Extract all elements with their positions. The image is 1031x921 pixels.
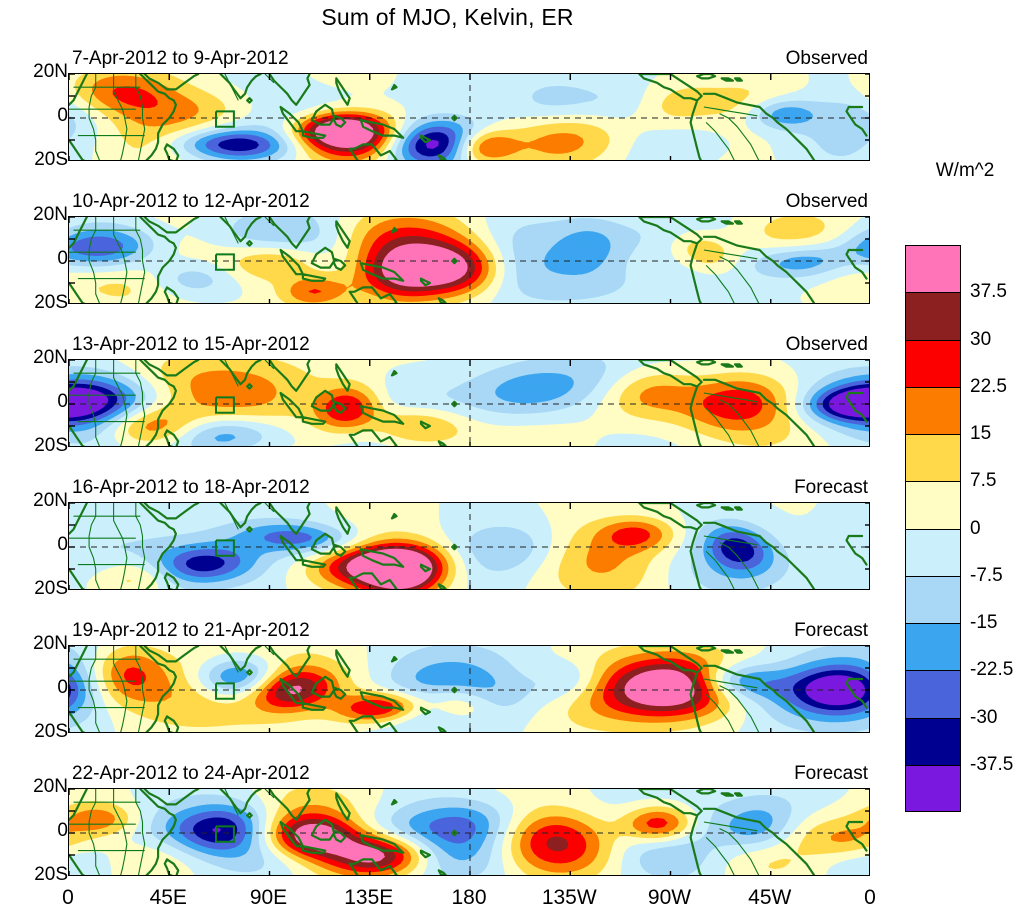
panel-date-label: 13-Apr-2012 to 15-Apr-2012	[72, 334, 310, 356]
colorbar-units-label: W/m^2	[905, 160, 1025, 182]
map-panel: 13-Apr-2012 to 15-Apr-2012Observed20N020…	[68, 359, 870, 447]
y-tick-label: 20S	[10, 864, 68, 886]
colorbar-band	[905, 623, 961, 670]
x-tick-label: 0	[62, 886, 74, 910]
colorbar-tick-label: -30	[970, 707, 997, 729]
y-tick-label: 20S	[10, 149, 68, 171]
y-axis: 20N020S	[2, 502, 68, 590]
colorbar	[905, 245, 961, 812]
panel-status-label: Forecast	[794, 620, 868, 642]
panel-date-label: 19-Apr-2012 to 21-Apr-2012	[72, 620, 310, 642]
colorbar-tick-label: -7.5	[970, 565, 1003, 587]
y-axis: 20N020S	[2, 359, 68, 447]
y-tick-label: 20S	[10, 578, 68, 600]
y-tick-label: 0	[10, 391, 68, 413]
y-tick-label: 0	[10, 105, 68, 127]
map-plot-area	[68, 502, 870, 590]
y-tick-label: 0	[10, 677, 68, 699]
map-panel: 22-Apr-2012 to 24-Apr-2012Forecast20N020…	[68, 788, 870, 876]
map-panel: 7-Apr-2012 to 9-Apr-2012Observed20N020S	[68, 73, 870, 161]
panel-date-label: 22-Apr-2012 to 24-Apr-2012	[72, 763, 310, 785]
panel-date-label: 10-Apr-2012 to 12-Apr-2012	[72, 191, 310, 213]
panel-status-label: Observed	[786, 48, 868, 70]
y-tick-label: 20N	[10, 490, 68, 512]
map-panel: 19-Apr-2012 to 21-Apr-2012Forecast20N020…	[68, 645, 870, 733]
colorbar-tick-label: 30	[970, 329, 991, 351]
y-tick-label: 20N	[10, 347, 68, 369]
x-tick-label: 180	[451, 886, 486, 910]
colorbar-band	[905, 387, 961, 434]
y-tick-label: 0	[10, 820, 68, 842]
colorbar-band	[905, 434, 961, 481]
y-tick-label: 20S	[10, 721, 68, 743]
y-tick-label: 20N	[10, 776, 68, 798]
x-tick-label: 0	[864, 886, 876, 910]
colorbar-band	[905, 529, 961, 576]
figure-root: Sum of MJO, Kelvin, ER 7-Apr-2012 to 9-A…	[0, 0, 1031, 921]
colorbar-tick-label: 15	[970, 423, 991, 445]
colorbar-band	[905, 670, 961, 717]
colorbar-tick-label: 37.5	[970, 281, 1007, 303]
colorbar-band	[905, 481, 961, 528]
panel-status-label: Forecast	[794, 763, 868, 785]
colorbar-tick-label: 0	[970, 518, 981, 540]
map-plot-area	[68, 645, 870, 733]
map-plot-area	[68, 359, 870, 447]
y-tick-label: 20S	[10, 435, 68, 457]
colorbar-band	[905, 718, 961, 765]
y-tick-label: 20N	[10, 633, 68, 655]
colorbar-tick-label: 7.5	[970, 470, 996, 492]
y-axis: 20N020S	[2, 216, 68, 304]
y-tick-label: 0	[10, 534, 68, 556]
map-panel: 10-Apr-2012 to 12-Apr-2012Observed20N020…	[68, 216, 870, 304]
colorbar-tick-label: -15	[970, 612, 997, 634]
y-tick-label: 20S	[10, 292, 68, 314]
figure-title: Sum of MJO, Kelvin, ER	[0, 4, 895, 31]
y-tick-label: 0	[10, 248, 68, 270]
x-tick-label: 90E	[250, 886, 287, 910]
y-axis: 20N020S	[2, 788, 68, 876]
panel-date-label: 16-Apr-2012 to 18-Apr-2012	[72, 477, 310, 499]
map-plot-area	[68, 73, 870, 161]
x-tick-label: 45W	[748, 886, 791, 910]
colorbar-band	[905, 292, 961, 339]
colorbar-tick-label: 22.5	[970, 376, 1007, 398]
y-tick-label: 20N	[10, 61, 68, 83]
colorbar-band	[905, 576, 961, 623]
panel-date-label: 7-Apr-2012 to 9-Apr-2012	[72, 48, 289, 70]
map-plot-area	[68, 788, 870, 876]
x-axis: 045E90E135E180135W90W45W0	[68, 868, 870, 908]
x-tick-label: 135E	[344, 886, 393, 910]
map-panel: 16-Apr-2012 to 18-Apr-2012Forecast20N020…	[68, 502, 870, 590]
panel-status-label: Observed	[786, 191, 868, 213]
panel-status-label: Observed	[786, 334, 868, 356]
panel-status-label: Forecast	[794, 477, 868, 499]
y-tick-label: 20N	[10, 204, 68, 226]
x-tick-label: 45E	[150, 886, 187, 910]
colorbar-band	[905, 245, 961, 292]
x-tick-label: 90W	[648, 886, 691, 910]
y-axis: 20N020S	[2, 645, 68, 733]
colorbar-band	[905, 765, 961, 812]
x-tick-label: 135W	[542, 886, 597, 910]
colorbar-tick-label: -22.5	[970, 659, 1013, 681]
colorbar-tick-label: -37.5	[970, 754, 1013, 776]
colorbar-band	[905, 340, 961, 387]
y-axis: 20N020S	[2, 73, 68, 161]
map-plot-area	[68, 216, 870, 304]
